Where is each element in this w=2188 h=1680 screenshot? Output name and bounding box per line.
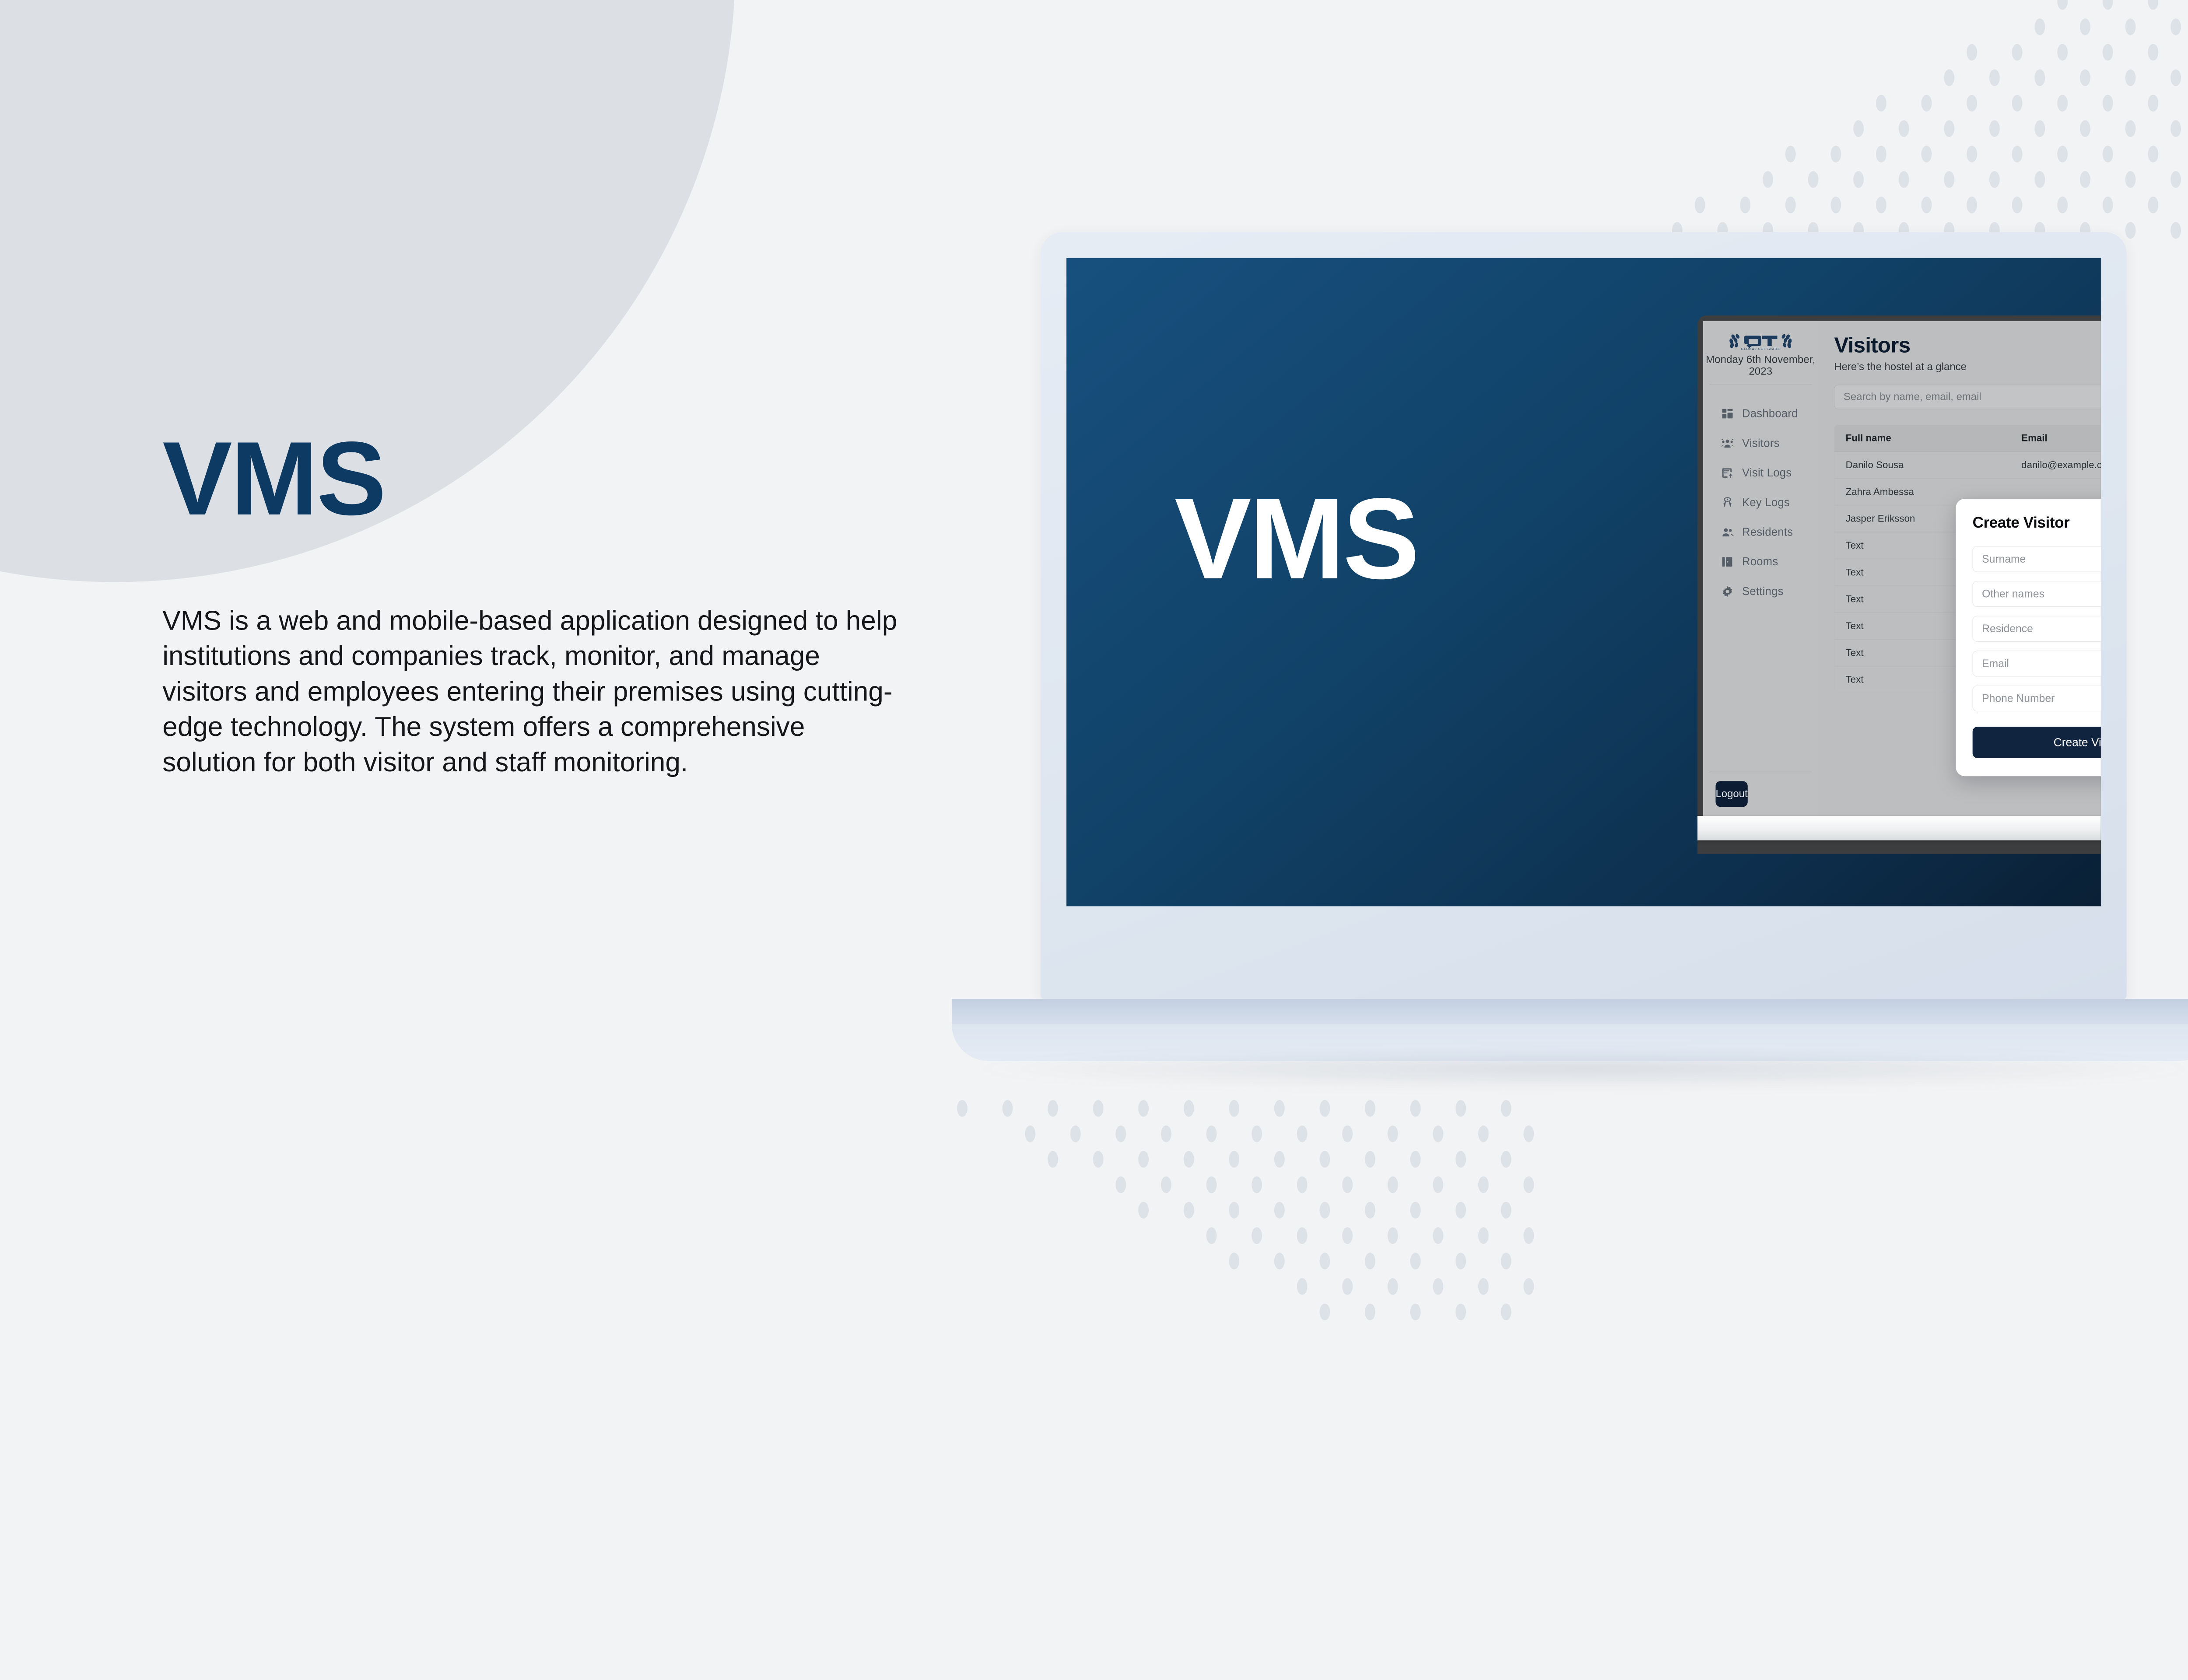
visitors-subheading: Here’s the hostel at a glance — [1834, 361, 2100, 373]
phone-placeholder: Phone Number — [1982, 692, 2055, 705]
search-placeholder-text: Search by name, email, email — [1844, 391, 1981, 403]
email-placeholder: Email — [1982, 658, 2009, 670]
sidebar-item-label: Rooms — [1742, 555, 1778, 568]
laptop-lid: VMS — [1041, 232, 2127, 999]
dot-pattern-top-right — [1630, 0, 2188, 258]
intro-block: VMS VMS is a web and mobile-based applic… — [162, 429, 929, 780]
laptop-screen: VMS — [1066, 258, 2101, 906]
sidebar-item-rooms[interactable]: Rooms — [1703, 547, 1818, 577]
laptop-mockup: VMS — [1041, 232, 2127, 999]
slide-canvas: VMS VMS is a web and mobile-based applic… — [0, 0, 2188, 1338]
sidebar-footer: Logout — [1703, 772, 1818, 816]
visitors-icon — [1721, 437, 1734, 450]
visit-logs-icon — [1721, 466, 1734, 479]
visitors-heading: Visitors — [1834, 333, 2100, 358]
page-title: VMS — [162, 429, 929, 528]
sidebar-item-label: Key Logs — [1742, 496, 1790, 509]
sidebar-divider-bottom — [1709, 772, 1812, 772]
svg-text:GLOBAL SOFTWARE: GLOBAL SOFTWARE — [1741, 347, 1780, 351]
screen-wordmark: VMS — [1175, 481, 1417, 596]
table-row[interactable]: Danilo Sousadanilo@example.com — [1834, 451, 2101, 478]
laptop-base — [952, 999, 2188, 1024]
sidebar-item-visitors[interactable]: Visitors — [1703, 428, 1818, 458]
cell-full-name: Danilo Sousa — [1834, 451, 2010, 478]
embedded-app-device: GLOBAL SOFTWARE Monday 6th November, 202… — [1697, 315, 2101, 854]
phone-number-field[interactable]: Phone Number — [1973, 686, 2101, 711]
other-names-field[interactable]: Other names — [1973, 581, 2101, 607]
create-visitor-button[interactable]: Create Visitor — [1973, 727, 2101, 758]
sidebar-date: Monday 6th November, 2023 — [1703, 352, 1818, 385]
rooms-icon — [1721, 556, 1734, 568]
table-header-row: Full name Email — [1834, 425, 2101, 451]
sidebar-nav: Dashboard Visitors — [1703, 385, 1818, 772]
other-names-placeholder: Other names — [1982, 588, 2044, 600]
sidebar-item-label: Dashboard — [1742, 407, 1798, 420]
dashboard-icon — [1721, 407, 1734, 420]
residents-icon — [1721, 526, 1734, 539]
sidebar-item-label: Settings — [1742, 585, 1784, 598]
sidebar-item-residents[interactable]: Residents — [1703, 517, 1818, 547]
app-main-panel: Visitors Here’s the hostel at a glance S… — [1818, 321, 2101, 816]
device-shelf-bar — [1697, 816, 2101, 840]
key-logs-icon — [1721, 496, 1734, 509]
surname-field[interactable]: Surname — [1973, 546, 2101, 572]
gear-icon — [1721, 585, 1734, 598]
cell-email: danilo@example.com — [2010, 451, 2101, 478]
residence-field[interactable]: Residence — [1973, 616, 2101, 642]
sidebar-item-key-logs[interactable]: Key Logs — [1703, 488, 1818, 518]
sidebar-item-label: Residents — [1742, 525, 1793, 538]
sidebar-item-settings[interactable]: Settings — [1703, 577, 1818, 606]
create-visitor-modal: Create Visitor Surname Other names Resid… — [1956, 499, 2100, 776]
column-header-email[interactable]: Email — [2010, 425, 2101, 451]
sidebar-item-visit-logs[interactable]: Visit Logs — [1703, 458, 1818, 488]
logout-button[interactable]: Logout — [1715, 781, 1747, 807]
qt-logo: GLOBAL SOFTWARE — [1703, 332, 1818, 352]
email-field[interactable]: Email — [1973, 651, 2101, 676]
sidebar-item-label: Visit Logs — [1742, 466, 1792, 479]
app-sidebar: GLOBAL SOFTWARE Monday 6th November, 202… — [1703, 321, 1818, 816]
sidebar-item-dashboard[interactable]: Dashboard — [1703, 399, 1818, 428]
surname-placeholder: Surname — [1982, 553, 2026, 566]
dot-pattern-bottom — [941, 1095, 1534, 1339]
residence-placeholder: Residence — [1982, 623, 2033, 635]
modal-title: Create Visitor — [1973, 514, 2101, 532]
page-description: VMS is a web and mobile-based applicatio… — [162, 603, 905, 780]
laptop-shadow — [978, 1048, 2188, 1090]
app-viewport: GLOBAL SOFTWARE Monday 6th November, 202… — [1703, 321, 2101, 816]
column-header-full-name[interactable]: Full name — [1834, 425, 2010, 451]
sidebar-item-label: Visitors — [1742, 437, 1780, 449]
search-input[interactable]: Search by name, email, email — [1834, 385, 2100, 409]
